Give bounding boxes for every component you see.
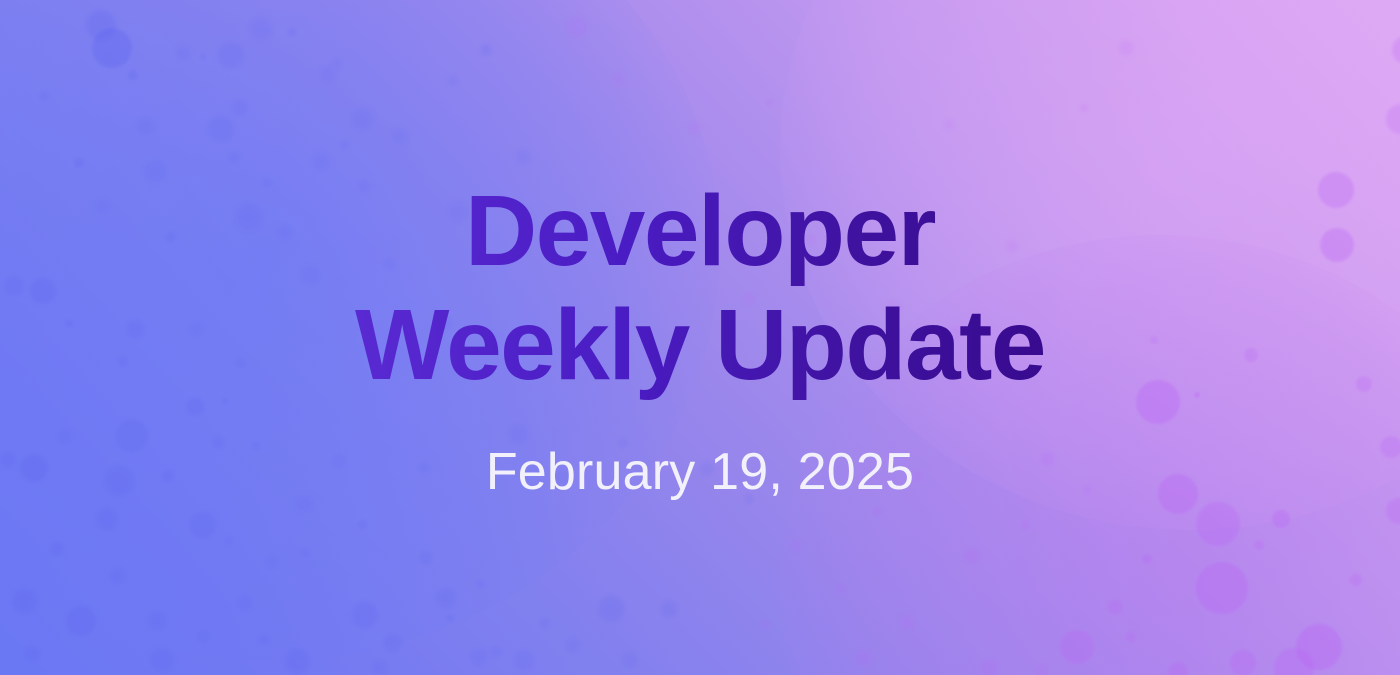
page-title-line-1: Developer [355,174,1045,288]
page-title-line-2: Weekly Update [355,288,1045,402]
date-subtitle: February 19, 2025 [486,442,914,502]
banner-content: Developer Weekly Update February 19, 202… [0,0,1400,675]
page-title: Developer Weekly Update [345,174,1055,402]
developer-weekly-update-banner: Developer Weekly Update February 19, 202… [0,0,1400,675]
